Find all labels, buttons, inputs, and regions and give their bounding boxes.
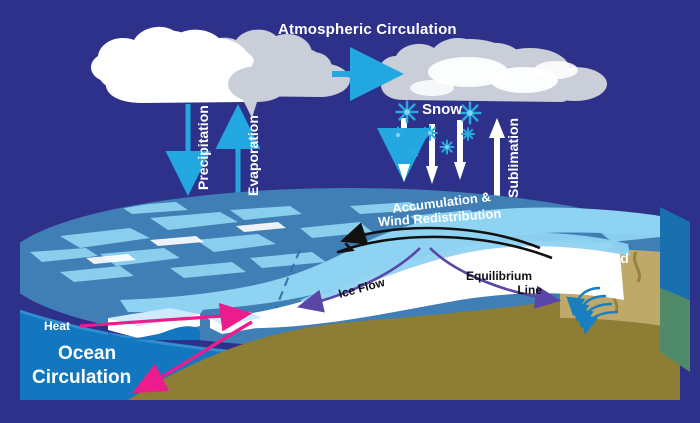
block-left-edge xyxy=(18,210,30,372)
diagram-canvas xyxy=(0,0,700,423)
arrow-up-icon-sublimation xyxy=(489,118,505,198)
block-right-bevel xyxy=(660,207,700,372)
arrow-down-icon-snowfall-group xyxy=(398,118,466,184)
cloud-right xyxy=(379,38,607,102)
ice-sheet-water-cycle-diagram: Atmospheric Circulation Precipitation Ev… xyxy=(0,0,700,423)
